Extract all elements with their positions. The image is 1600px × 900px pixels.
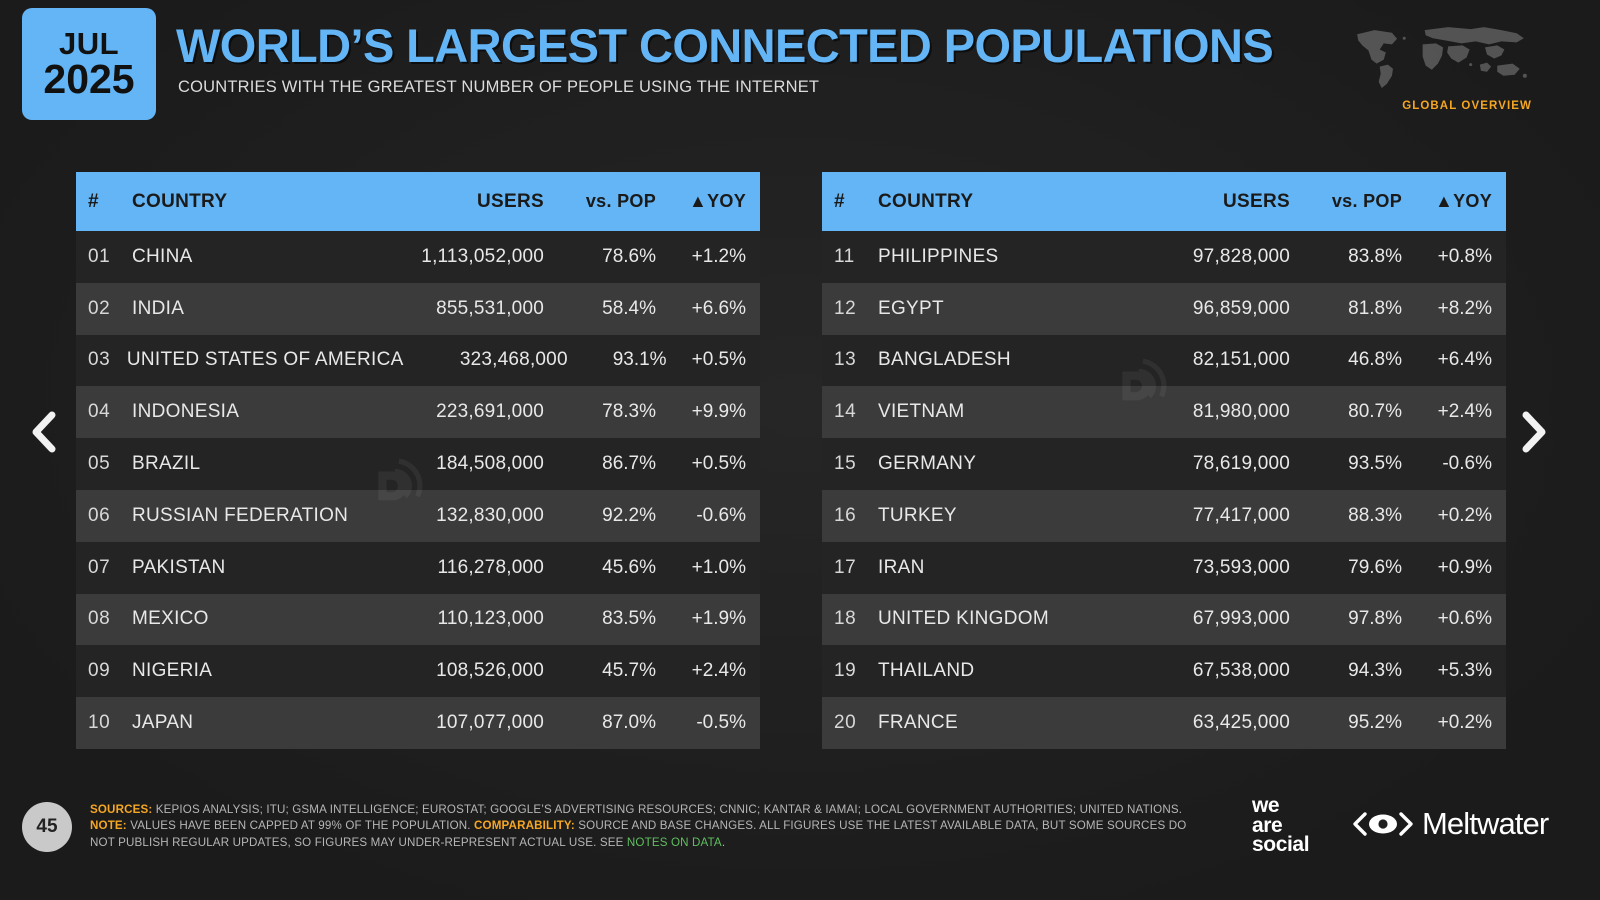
table-row: 11PHILIPPINES97,828,00083.8%+0.8% <box>822 231 1506 283</box>
cell-users: 82,151,000 <box>1104 349 1290 371</box>
cell-users: 96,859,000 <box>1104 298 1290 320</box>
cell-rank: 07 <box>76 557 132 579</box>
table-right: # COUNTRY USERS vs. POP ▲YOY 11PHILIPPIN… <box>822 172 1506 749</box>
cell-rank: 08 <box>76 608 132 630</box>
sources-text: KEPIOS ANALYSIS; ITU; GSMA INTELLIGENCE;… <box>152 803 1182 816</box>
cell-country: TURKEY <box>878 505 1104 527</box>
cell-country: IRAN <box>878 557 1104 579</box>
cell-country: THAILAND <box>878 660 1104 682</box>
world-map-icon <box>1348 16 1532 92</box>
cell-country: PHILIPPINES <box>878 246 1104 268</box>
sources-label: SOURCES: <box>90 803 152 816</box>
cell-vs-pop: 58.4% <box>544 298 656 320</box>
table-row: 12EGYPT96,859,00081.8%+8.2% <box>822 283 1506 335</box>
prev-slide-button[interactable] <box>20 402 66 462</box>
cell-country: CHINA <box>132 246 358 268</box>
col-header-vs-pop: vs. POP <box>544 191 656 212</box>
cell-vs-pop: 83.5% <box>544 608 656 630</box>
col-header-rank: # <box>76 191 132 213</box>
note-label: NOTE: <box>90 819 127 832</box>
table-row: 10JAPAN107,077,00087.0%-0.5% <box>76 697 760 749</box>
table-row: 05BRAZIL184,508,00086.7%+0.5% <box>76 438 760 490</box>
cell-yoy: +0.2% <box>1402 712 1506 734</box>
cell-country: BRAZIL <box>132 453 358 475</box>
cell-vs-pop: 88.3% <box>1290 505 1402 527</box>
table-row: 09NIGERIA108,526,00045.7%+2.4% <box>76 645 760 697</box>
cell-rank: 12 <box>822 298 878 320</box>
cell-rank: 02 <box>76 298 132 320</box>
meltwater-eye-icon <box>1352 810 1414 838</box>
cell-users: 184,508,000 <box>358 453 544 475</box>
note-text: VALUES HAVE BEEN CAPPED AT 99% OF THE PO… <box>127 819 474 832</box>
cell-country: BANGLADESH <box>878 349 1104 371</box>
table-row: 17IRAN73,593,00079.6%+0.9% <box>822 542 1506 594</box>
cell-country: INDIA <box>132 298 358 320</box>
cell-country: UNITED KINGDOM <box>878 608 1104 630</box>
cell-users: 81,980,000 <box>1104 401 1290 423</box>
table-left: # COUNTRY USERS vs. POP ▲YOY 01CHINA1,11… <box>76 172 760 749</box>
cell-yoy: +1.0% <box>656 557 760 579</box>
chevron-left-icon <box>28 410 58 454</box>
table-right-header: # COUNTRY USERS vs. POP ▲YOY <box>822 172 1506 231</box>
cell-rank: 15 <box>822 453 878 475</box>
cell-rank: 17 <box>822 557 878 579</box>
cell-rank: 01 <box>76 246 132 268</box>
cell-country: RUSSIAN FEDERATION <box>132 505 358 527</box>
chevron-right-icon <box>1520 410 1550 454</box>
cell-country: VIETNAM <box>878 401 1104 423</box>
cell-users: 97,828,000 <box>1104 246 1290 268</box>
page-number-badge: 45 <box>22 802 72 852</box>
cell-yoy: +0.6% <box>1402 608 1506 630</box>
cell-vs-pop: 79.6% <box>1290 557 1402 579</box>
next-slide-button[interactable] <box>1512 402 1558 462</box>
cell-country: FRANCE <box>878 712 1104 734</box>
cell-vs-pop: 87.0% <box>544 712 656 734</box>
cell-yoy: -0.5% <box>656 712 760 734</box>
cell-vs-pop: 86.7% <box>544 453 656 475</box>
cell-yoy: +0.5% <box>667 349 760 371</box>
cell-country: PAKISTAN <box>132 557 358 579</box>
logo-line-social: social <box>1252 835 1309 855</box>
page-subtitle: COUNTRIES WITH THE GREATEST NUMBER OF PE… <box>178 78 819 97</box>
cell-vs-pop: 83.8% <box>1290 246 1402 268</box>
cell-vs-pop: 45.7% <box>544 660 656 682</box>
table-left-body: 01CHINA1,113,052,00078.6%+1.2%02INDIA855… <box>76 231 760 749</box>
logo-line-we: we <box>1252 796 1309 816</box>
date-badge: JUL 2025 <box>22 8 156 120</box>
comparability-label: COMPARABILITY: <box>474 819 575 832</box>
footnote-text: SOURCES: KEPIOS ANALYSIS; ITU; GSMA INTE… <box>90 802 1210 851</box>
cell-yoy: +6.4% <box>1402 349 1506 371</box>
table-right-body: 11PHILIPPINES97,828,00083.8%+0.8%12EGYPT… <box>822 231 1506 749</box>
cell-yoy: +0.9% <box>1402 557 1506 579</box>
cell-yoy: -0.6% <box>1402 453 1506 475</box>
cell-vs-pop: 97.8% <box>1290 608 1402 630</box>
cell-rank: 20 <box>822 712 878 734</box>
date-badge-month: JUL <box>59 29 119 59</box>
cell-users: 67,538,000 <box>1104 660 1290 682</box>
cell-rank: 06 <box>76 505 132 527</box>
cell-country: MEXICO <box>132 608 358 630</box>
col-header-country: COUNTRY <box>132 191 358 213</box>
cell-users: 107,077,000 <box>358 712 544 734</box>
table-row: 01CHINA1,113,052,00078.6%+1.2% <box>76 231 760 283</box>
cell-vs-pop: 92.2% <box>544 505 656 527</box>
cell-country: EGYPT <box>878 298 1104 320</box>
cell-yoy: +9.9% <box>656 401 760 423</box>
cell-rank: 13 <box>822 349 878 371</box>
cell-yoy: +2.4% <box>1402 401 1506 423</box>
col-header-vs-pop: vs. POP <box>1290 191 1402 212</box>
cell-yoy: +5.3% <box>1402 660 1506 682</box>
col-header-country: COUNTRY <box>878 191 1104 213</box>
cell-users: 63,425,000 <box>1104 712 1290 734</box>
table-row: 06RUSSIAN FEDERATION132,830,00092.2%-0.6… <box>76 490 760 542</box>
table-left-header: # COUNTRY USERS vs. POP ▲YOY <box>76 172 760 231</box>
global-overview-label: GLOBAL OVERVIEW <box>1402 100 1532 112</box>
cell-rank: 16 <box>822 505 878 527</box>
date-badge-year: 2025 <box>43 59 134 99</box>
cell-vs-pop: 46.8% <box>1290 349 1402 371</box>
cell-users: 132,830,000 <box>358 505 544 527</box>
cell-yoy: +0.2% <box>1402 505 1506 527</box>
cell-vs-pop: 78.3% <box>544 401 656 423</box>
table-row: 14VIETNAM81,980,00080.7%+2.4% <box>822 386 1506 438</box>
table-row: 19THAILAND67,538,00094.3%+5.3% <box>822 645 1506 697</box>
cell-rank: 09 <box>76 660 132 682</box>
cell-vs-pop: 78.6% <box>544 246 656 268</box>
cell-users: 116,278,000 <box>358 557 544 579</box>
cell-users: 77,417,000 <box>1104 505 1290 527</box>
cell-country: INDONESIA <box>132 401 358 423</box>
cell-users: 323,468,000 <box>404 349 568 371</box>
page-title: WORLD’S LARGEST CONNECTED POPULATIONS <box>176 18 1273 73</box>
cell-users: 73,593,000 <box>1104 557 1290 579</box>
cell-rank: 14 <box>822 401 878 423</box>
col-header-yoy: ▲YOY <box>1402 191 1506 212</box>
slide-canvas: JUL 2025 WORLD’S LARGEST CONNECTED POPUL… <box>0 0 1600 900</box>
meltwater-wordmark: Meltwater <box>1422 806 1548 842</box>
table-row: 07PAKISTAN116,278,00045.6%+1.0% <box>76 542 760 594</box>
cell-users: 855,531,000 <box>358 298 544 320</box>
cell-vs-pop: 94.3% <box>1290 660 1402 682</box>
cell-rank: 18 <box>822 608 878 630</box>
cell-yoy: +0.5% <box>656 453 760 475</box>
cell-rank: 10 <box>76 712 132 734</box>
col-header-rank: # <box>822 191 878 213</box>
col-header-yoy: ▲YOY <box>656 191 760 212</box>
cell-rank: 11 <box>822 246 878 268</box>
cell-country: UNITED STATES OF AMERICA <box>127 349 404 371</box>
meltwater-logo: Meltwater <box>1352 806 1548 842</box>
table-row: 02INDIA855,531,00058.4%+6.6% <box>76 283 760 335</box>
table-row: 04INDONESIA223,691,00078.3%+9.9% <box>76 386 760 438</box>
notes-on-data-link[interactable]: NOTES ON DATA <box>627 836 722 849</box>
cell-rank: 19 <box>822 660 878 682</box>
table-row: 08MEXICO110,123,00083.5%+1.9% <box>76 594 760 646</box>
table-row: 20FRANCE63,425,00095.2%+0.2% <box>822 697 1506 749</box>
cell-rank: 05 <box>76 453 132 475</box>
cell-users: 78,619,000 <box>1104 453 1290 475</box>
cell-yoy: +1.2% <box>656 246 760 268</box>
cell-yoy: +6.6% <box>656 298 760 320</box>
cell-vs-pop: 95.2% <box>1290 712 1402 734</box>
cell-vs-pop: 45.6% <box>544 557 656 579</box>
cell-yoy: +8.2% <box>1402 298 1506 320</box>
cell-country: GERMANY <box>878 453 1104 475</box>
col-header-users: USERS <box>1104 191 1290 213</box>
col-header-users: USERS <box>358 191 544 213</box>
table-row: 03UNITED STATES OF AMERICA323,468,00093.… <box>76 335 760 387</box>
cell-vs-pop: 93.5% <box>1290 453 1402 475</box>
we-are-social-logo: we are social <box>1252 796 1309 855</box>
table-row: 16TURKEY77,417,00088.3%+0.2% <box>822 490 1506 542</box>
cell-country: JAPAN <box>132 712 358 734</box>
cell-rank: 04 <box>76 401 132 423</box>
footnote-end: . <box>722 836 725 849</box>
cell-yoy: +0.8% <box>1402 246 1506 268</box>
cell-yoy: +1.9% <box>656 608 760 630</box>
cell-users: 223,691,000 <box>358 401 544 423</box>
cell-vs-pop: 93.1% <box>568 349 667 371</box>
table-row: 15GERMANY78,619,00093.5%-0.6% <box>822 438 1506 490</box>
cell-users: 108,526,000 <box>358 660 544 682</box>
cell-rank: 03 <box>76 349 127 371</box>
cell-users: 110,123,000 <box>358 608 544 630</box>
table-row: 13BANGLADESH82,151,00046.8%+6.4% <box>822 335 1506 387</box>
cell-users: 1,113,052,000 <box>358 246 544 268</box>
table-row: 18UNITED KINGDOM67,993,00097.8%+0.6% <box>822 594 1506 646</box>
cell-users: 67,993,000 <box>1104 608 1290 630</box>
cell-country: NIGERIA <box>132 660 358 682</box>
cell-vs-pop: 80.7% <box>1290 401 1402 423</box>
cell-vs-pop: 81.8% <box>1290 298 1402 320</box>
cell-yoy: +2.4% <box>656 660 760 682</box>
cell-yoy: -0.6% <box>656 505 760 527</box>
